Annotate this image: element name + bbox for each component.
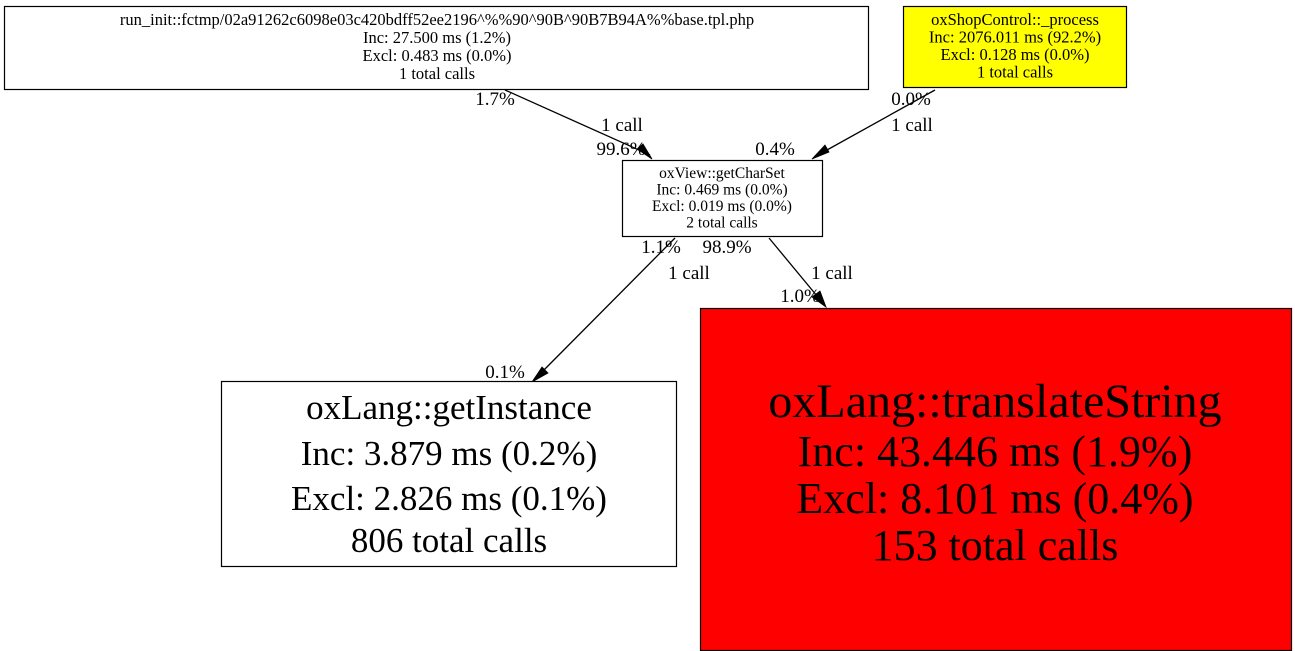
edge-head-percent: 1.0% (780, 286, 820, 307)
call-graph-canvas: 1.7% 1 call 99.6% 0.0% 1 call 0.4% 1.1% … (0, 0, 1295, 651)
edge-tail-percent: 1.1% (641, 237, 681, 258)
node-exclusive: Excl: 0.019 ms (0.0%) (652, 198, 792, 215)
edge-getCharSet-to-getInstance[interactable]: 1.1% 1 call 0.1% (485, 237, 710, 383)
edge-head-percent: 99.6% (596, 139, 645, 160)
node-calls: 153 total calls (872, 521, 1119, 570)
node-calls: 2 total calls (686, 215, 757, 232)
node-inclusive: Inc: 43.446 ms (1.9%) (798, 427, 1193, 476)
node-inclusive: Inc: 27.500 ms (1.2%) (363, 28, 511, 47)
node-exclusive: Excl: 0.483 ms (0.0%) (363, 46, 512, 65)
node-oxlang-translatestring[interactable]: oxLang::translateString Inc: 43.446 ms (… (701, 309, 1292, 651)
edge-tail-percent: 1.7% (475, 89, 515, 110)
edge-getCharSet-to-translateString[interactable]: 98.9% 1 call 1.0% (702, 237, 852, 307)
arrowhead-icon (812, 145, 829, 159)
edge-head-percent: 0.4% (755, 139, 795, 160)
edge-tail-percent: 0.0% (891, 89, 931, 110)
node-calls: 1 total calls (977, 63, 1053, 82)
edge-head-percent: 0.1% (485, 362, 525, 383)
node-inclusive: Inc: 2076.011 ms (92.2%) (929, 28, 1101, 47)
node-inclusive: Inc: 3.879 ms (0.2%) (301, 434, 597, 473)
node-exclusive: Excl: 8.101 ms (0.4%) (796, 474, 1193, 523)
edge-tail-percent: 98.9% (702, 237, 751, 258)
node-title: oxLang::getInstance (306, 388, 592, 427)
node-run-init[interactable]: run_init::fctmp/02a91262c6098e03c420bdff… (5, 7, 869, 90)
node-calls: 806 total calls (351, 521, 547, 560)
edge-run_init-to-getCharSet[interactable]: 1.7% 1 call 99.6% (475, 89, 652, 160)
edge-line (536, 238, 675, 378)
node-title: run_init::fctmp/02a91262c6098e03c420bdff… (120, 10, 754, 29)
edge-shopcontrol-to-getCharSet[interactable]: 0.0% 1 call 0.4% (755, 89, 935, 160)
edge-calls-label: 1 call (601, 115, 643, 136)
node-title: oxShopControl::_process (931, 10, 1099, 29)
node-title: oxLang::translateString (768, 375, 1221, 428)
node-exclusive: Excl: 0.128 ms (0.0%) (941, 45, 1090, 64)
node-oxlang-getinstance[interactable]: oxLang::getInstance Inc: 3.879 ms (0.2%)… (222, 382, 677, 567)
node-title: oxView::getCharSet (659, 165, 785, 182)
node-oxview-getcharset[interactable]: oxView::getCharSet Inc: 0.469 ms (0.0%) … (623, 161, 823, 237)
call-graph-svg: 1.7% 1 call 99.6% 0.0% 1 call 0.4% 1.1% … (0, 0, 1295, 651)
node-exclusive: Excl: 2.826 ms (0.1%) (291, 479, 607, 518)
node-inclusive: Inc: 0.469 ms (0.0%) (656, 182, 787, 199)
edge-calls-label: 1 call (668, 263, 710, 284)
edge-calls-label: 1 call (891, 115, 933, 136)
node-calls: 1 total calls (399, 64, 475, 83)
node-oxshopcontrol-process[interactable]: oxShopControl::_process Inc: 2076.011 ms… (904, 7, 1127, 88)
edge-calls-label: 1 call (811, 263, 853, 284)
